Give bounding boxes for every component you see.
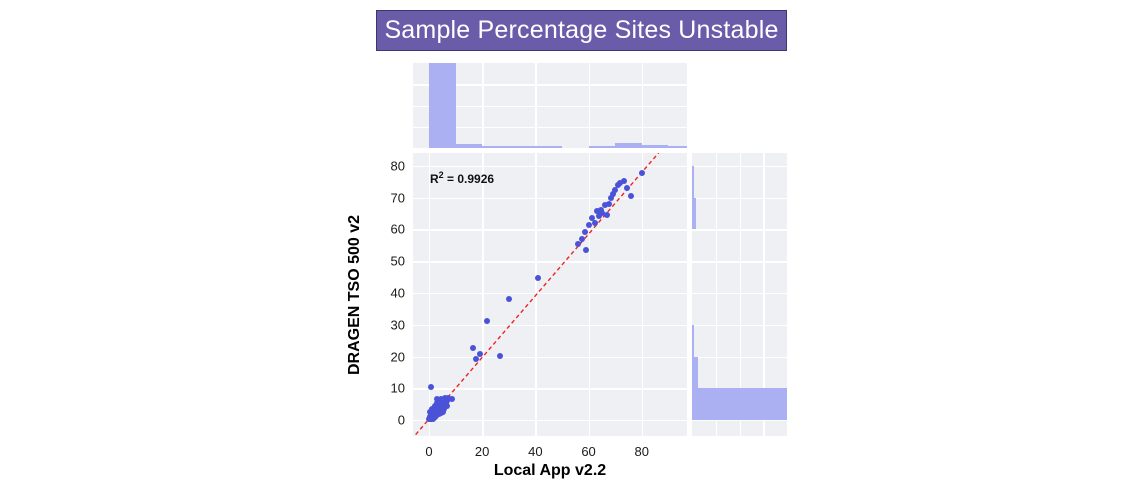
scatter-plot-panel — [413, 153, 687, 436]
figure-container: Sample Percentage Sites Unstable 0102030… — [0, 0, 1140, 500]
scatter-points-layer — [413, 153, 687, 436]
scatter-point — [429, 406, 435, 412]
histogram-bar — [615, 143, 642, 148]
histogram-bar — [668, 146, 687, 148]
y-axis-tick-label: 60 — [371, 222, 405, 237]
x-axis-label: Local App v2.2 — [494, 462, 606, 480]
y-axis-tick-label: 20 — [371, 349, 405, 364]
scatter-point — [606, 201, 612, 207]
histogram-bar — [692, 325, 694, 357]
right-marginal-histogram — [692, 153, 787, 436]
scatter-point — [592, 220, 598, 226]
y-axis-tick-label: 30 — [371, 317, 405, 332]
scatter-point — [621, 178, 627, 184]
top-marginal-histogram — [413, 63, 687, 148]
page-title: Sample Percentage Sites Unstable — [384, 18, 778, 43]
histogram-bar — [535, 146, 562, 148]
scatter-point — [628, 193, 634, 199]
scatter-point — [624, 185, 630, 191]
scatter-point — [604, 212, 610, 218]
scatter-point — [449, 396, 455, 402]
r-squared-annotation: R2 = 0.9926 — [430, 170, 494, 186]
histogram-bar — [482, 146, 509, 148]
scatter-point — [441, 403, 447, 409]
y-axis-tick-label: 40 — [371, 285, 405, 300]
scatter-point — [586, 222, 592, 228]
scatter-point — [582, 229, 588, 235]
histogram-bar — [642, 145, 669, 148]
histogram-bar — [692, 198, 696, 230]
chart-title-banner: Sample Percentage Sites Unstable — [376, 10, 787, 51]
scatter-point — [470, 345, 476, 351]
histogram-bar — [589, 146, 616, 148]
histogram-bar — [509, 146, 536, 148]
scatter-point — [484, 318, 490, 324]
scatter-point — [428, 384, 434, 390]
y-axis-tick-label: 0 — [371, 413, 405, 428]
scatter-point — [506, 296, 512, 302]
histogram-bar — [429, 63, 456, 148]
histogram-bar — [456, 144, 483, 148]
x-axis-tick-label: 40 — [528, 444, 542, 459]
scatter-point — [639, 170, 645, 176]
y-axis-tick-label: 10 — [371, 381, 405, 396]
y-axis-tick-label: 50 — [371, 254, 405, 269]
x-axis-tick-label: 60 — [581, 444, 595, 459]
scatter-point — [535, 275, 541, 281]
x-axis-tick-label: 0 — [425, 444, 432, 459]
histogram-bar — [692, 357, 698, 389]
y-axis-tick-label: 70 — [371, 190, 405, 205]
scatter-point — [579, 236, 585, 242]
r2-value: = 0.9926 — [444, 172, 494, 186]
histogram-bar — [692, 388, 787, 420]
r2-letter: R — [430, 172, 439, 186]
scatter-point — [432, 414, 438, 420]
y-axis-label: DRAGEN TSO 500 v2 — [346, 215, 364, 375]
x-axis-tick-label: 20 — [475, 444, 489, 459]
y-axis-tick-label: 80 — [371, 158, 405, 173]
scatter-point — [583, 247, 589, 253]
histogram-bar — [692, 166, 694, 198]
scatter-point — [497, 353, 503, 359]
scatter-point — [477, 351, 483, 357]
x-axis-tick-label: 80 — [635, 444, 649, 459]
